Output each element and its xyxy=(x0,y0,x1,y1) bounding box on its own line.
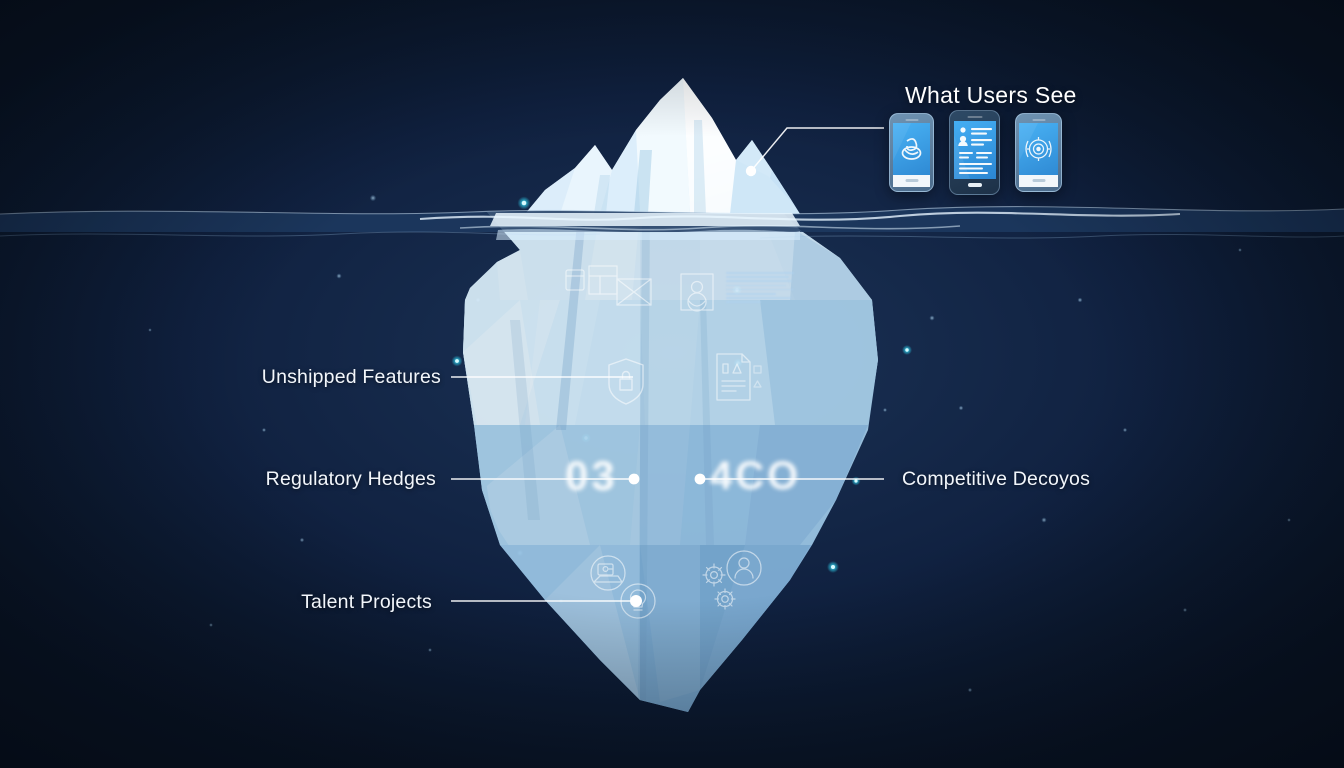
callout-label-competitive-decoyos[interactable]: Competitive Decoyos xyxy=(902,468,1090,491)
callout-label-talent-projects[interactable]: Talent Projects xyxy=(145,591,432,614)
app-logo-icon xyxy=(893,123,930,175)
callout-label-regulatory-hedges[interactable]: Regulatory Hedges xyxy=(145,468,436,491)
phone-speaker xyxy=(967,116,982,118)
profile-feed-content xyxy=(954,121,996,179)
target-dashboard-icon xyxy=(1019,123,1058,175)
phone-app-logo[interactable] xyxy=(889,113,934,192)
phone-speaker xyxy=(905,119,918,121)
callout-label-unshipped-features[interactable]: Unshipped Features xyxy=(145,366,441,389)
phone-speaker xyxy=(1032,119,1045,121)
infographic-canvas: 03 4CO What Users See Unshipped Features… xyxy=(0,0,1344,768)
phone-home-button[interactable] xyxy=(968,183,982,187)
phone-home-button[interactable] xyxy=(905,179,918,183)
page-title: What Users See xyxy=(905,82,1077,109)
phone-screen xyxy=(1019,123,1058,175)
phone-home-button[interactable] xyxy=(1032,179,1045,183)
phone-screen xyxy=(954,121,996,179)
phone-target-dashboard[interactable] xyxy=(1015,113,1062,192)
phone-screen xyxy=(893,123,930,175)
phone-profile-feed[interactable] xyxy=(949,110,1000,195)
